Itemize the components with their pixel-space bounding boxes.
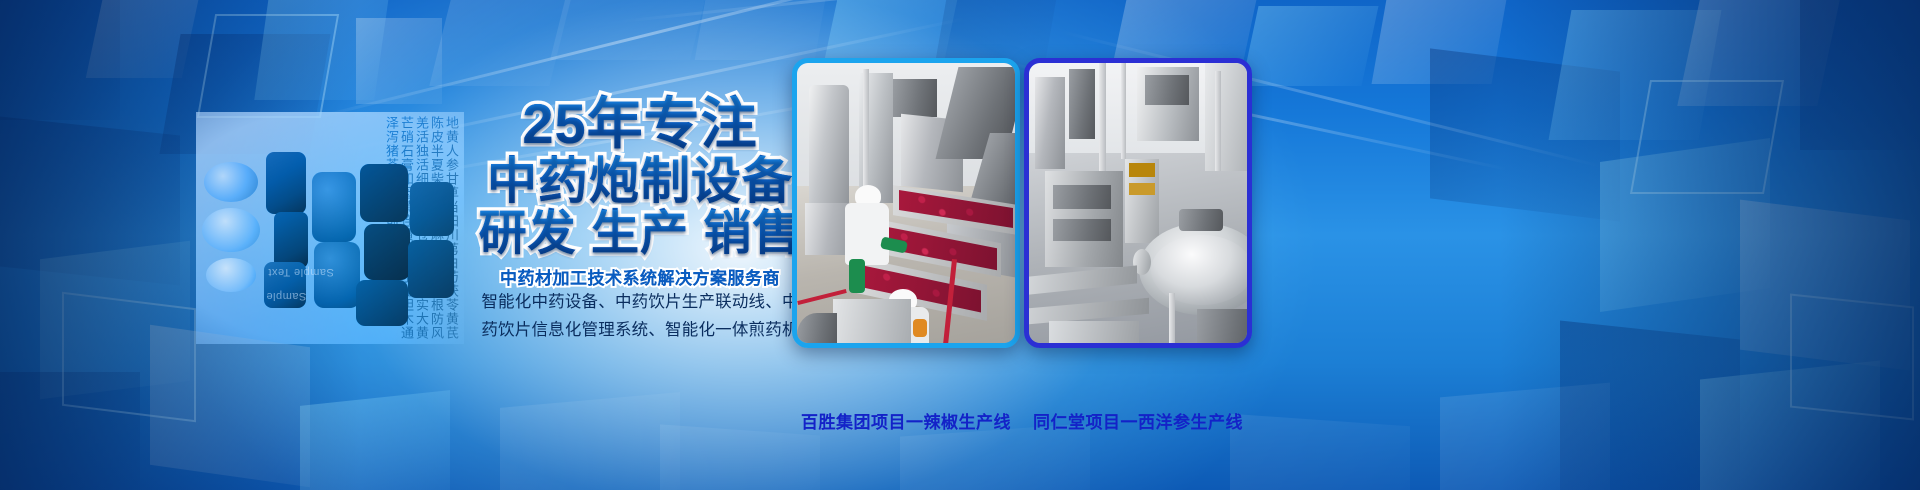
bg-shape — [0, 0, 120, 120]
promo-banner: 地黄人参甘草当归川芎白芍茯苓黄芪陈皮半夏柴胡桂枝麻黄升麻葛根防风羌活独活细辛白芷… — [0, 0, 1920, 490]
photo-caption-ginseng: 同仁堂项目一西洋参生产线 — [1000, 408, 1276, 433]
herb-pile — [196, 112, 464, 344]
bg-shape — [254, 0, 389, 100]
bg-shape — [1440, 383, 1610, 490]
bg-shape — [1560, 321, 1740, 490]
bg-shape — [1600, 138, 1770, 312]
description-block: 智能化中药设备、中药饮片生产联动线、中 药饮片信息化管理系统、智能化一体煎药机 — [448, 288, 832, 344]
bg-shape — [197, 14, 339, 118]
bg-shape — [1740, 200, 1910, 371]
headline-tagline-fill: 中药材加工技术系统解决方案服务商 — [470, 264, 810, 289]
bg-shape — [550, 0, 710, 60]
bg-shape — [0, 117, 180, 286]
bg-shape — [1677, 0, 1843, 106]
headline-line-3: 研发 生产 销售 研发 生产 销售 — [470, 210, 810, 258]
bg-shape — [900, 423, 1090, 490]
bg-shape — [62, 292, 196, 422]
description-line-1: 智能化中药设备、中药饮片生产联动线、中 — [448, 288, 832, 316]
photo-card-ginseng-production-line[interactable] — [1024, 58, 1252, 348]
bg-shape — [500, 392, 680, 490]
bg-shape — [40, 241, 190, 399]
photo-chili-production-line — [797, 63, 1015, 343]
headline-line-2: 中药炮制设备 中药炮制设备 — [470, 156, 810, 206]
bg-shape — [356, 18, 442, 104]
description-line-2: 药饮片信息化管理系统、智能化一体煎药机 — [448, 316, 832, 344]
headline-block: 25年专注 25年专注 中药炮制设备 中药炮制设备 研发 生产 销售 研发 生产… — [470, 96, 810, 289]
headline-line-2-fill: 中药炮制设备 — [470, 156, 810, 206]
photo-ginseng-production-line — [1029, 63, 1247, 343]
bg-shape — [1241, 6, 1378, 86]
bg-shape — [1372, 0, 1509, 84]
bg-shape — [300, 390, 450, 490]
bg-shape — [0, 372, 140, 490]
headline-line-1: 25年专注 25年专注 — [470, 96, 810, 152]
bg-shape — [695, 0, 826, 60]
bg-shape — [86, 0, 202, 78]
bg-shape — [1430, 48, 1620, 221]
bg-shape — [1790, 293, 1914, 420]
photo-card-chili-production-line[interactable] — [792, 58, 1020, 348]
headline-line-3-fill: 研发 生产 销售 — [470, 210, 810, 258]
bg-shape — [1549, 10, 1722, 140]
bg-shape — [1700, 361, 1880, 490]
headline-tagline: 中药材加工技术系统解决方案服务商 中药材加工技术系统解决方案服务商 — [470, 264, 810, 289]
bg-shape — [429, 0, 570, 86]
bg-shape — [660, 424, 820, 490]
bg-shape — [1630, 80, 1784, 194]
herbal-medicine-collage: 地黄人参甘草当归川芎白芍茯苓黄芪陈皮半夏柴胡桂枝麻黄升麻葛根防风羌活独活细辛白芷… — [196, 112, 464, 344]
bg-shape — [1800, 0, 1920, 150]
headline-line-1-fill: 25年专注 — [470, 96, 810, 152]
right-vignette — [1500, 0, 1920, 490]
bg-shape — [150, 325, 310, 487]
